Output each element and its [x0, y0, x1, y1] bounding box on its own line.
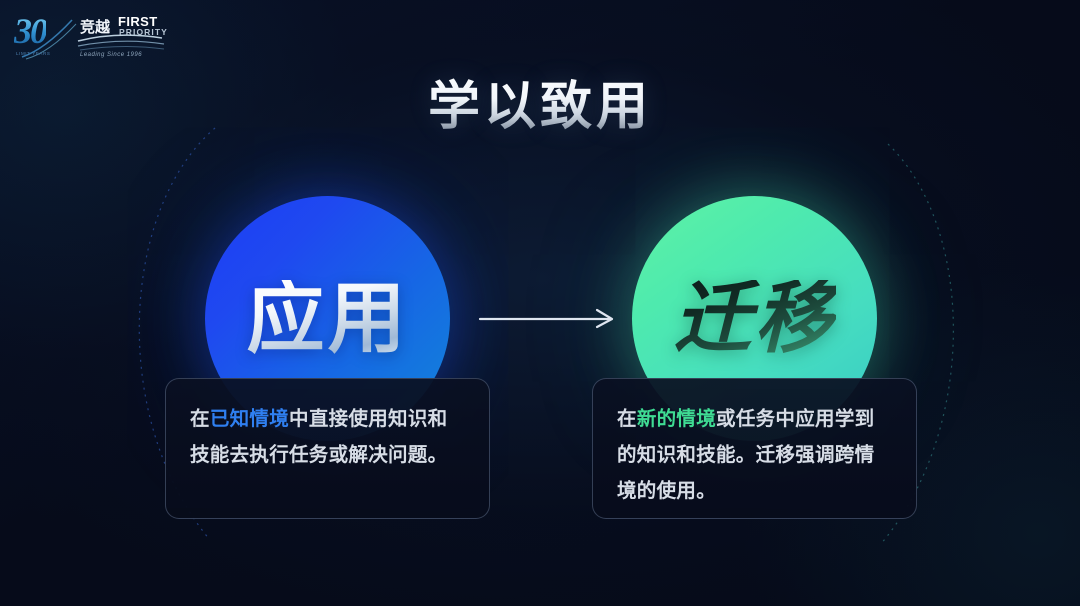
concept-circle-transfer-label: 迁移: [673, 280, 835, 358]
description-card-apply-text: 在已知情境中直接使用知识和技能去执行任务或解决问题。: [190, 401, 465, 473]
description-card-transfer-text: 在新的情境或任务中应用学到的知识和技能。迁移强调跨情境的使用。: [617, 401, 892, 509]
transfer-text-prefix: 在: [617, 407, 637, 430]
concept-circle-apply-label: 应用: [246, 280, 408, 358]
logo-anniversary-number: 30: [14, 13, 46, 49]
apply-text-prefix: 在: [190, 407, 210, 430]
slide-title: 学以致用: [0, 78, 1080, 135]
arrow-right-icon: [478, 305, 618, 331]
logo-anniversary-sub: LIMIT YEARS: [16, 51, 50, 56]
description-card-transfer: 在新的情境或任务中应用学到的知识和技能。迁移强调跨情境的使用。: [592, 378, 917, 519]
transfer-text-highlight: 新的情境: [637, 407, 716, 430]
slide-canvas: 30 LIMIT YEARS 竞越 FIRST PRIORITY Leading…: [0, 0, 1080, 606]
logo-tagline: Leading Since 1996: [80, 52, 142, 58]
logo-brand-chinese: 竞越: [80, 16, 110, 37]
description-card-apply: 在已知情境中直接使用知识和技能去执行任务或解决问题。: [165, 378, 490, 519]
logo-brand-priority: PRIORITY: [119, 27, 168, 37]
apply-text-highlight: 已知情境: [210, 407, 289, 430]
brand-logo: 30 LIMIT YEARS 竞越 FIRST PRIORITY Leading…: [14, 11, 166, 63]
